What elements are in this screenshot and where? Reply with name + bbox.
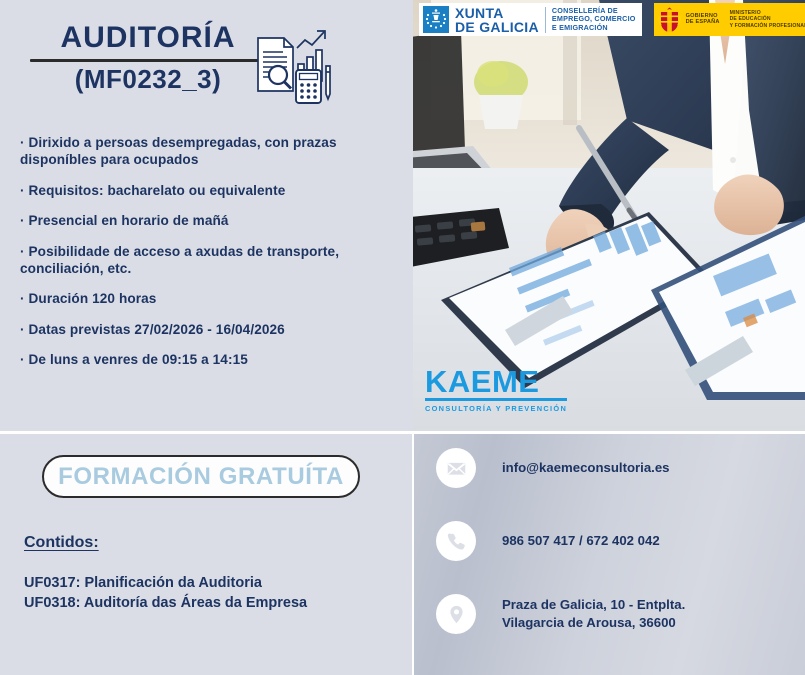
contents-block: Contidos: UF0317: Planificación da Audit… [24, 534, 307, 613]
phone-icon [436, 521, 476, 561]
envelope-icon [436, 448, 476, 488]
xunta-de-galicia-shield-icon [423, 6, 449, 33]
logo-divider [545, 7, 546, 33]
ministerio-line3: Y FORMACIÓN PROFESIONAL [730, 23, 805, 29]
audit-document-chart-calculator-icon [252, 26, 337, 108]
free-training-badge-label: FORMACIÓN GRATUÍTA [58, 463, 344, 491]
contact-address-line2: Vilagarcia de Arousa, 36600 [502, 614, 685, 632]
list-item: · De luns a venres de 09:15 a 14:15 [20, 351, 395, 368]
contact-address-text: Praza de Galicia, 10 - Entplta. Vilagarc… [502, 596, 685, 632]
xunta-dept-line3: E EMIGRACIÓN [552, 24, 636, 32]
spain-coat-of-arms-icon [658, 7, 681, 33]
institutional-logos: XUNTA DE GALICIA CONSELLERÍA DE EMPREGO,… [413, 0, 805, 40]
xunta-de-galicia-logo: XUNTA DE GALICIA CONSELLERÍA DE EMPREGO,… [419, 3, 642, 36]
xunta-name-line2: DE GALICIA [455, 20, 539, 34]
contact-phone-text: 986 507 417 / 672 402 042 [502, 532, 660, 550]
ministerio-name: MINISTERIO DE EDUCACIÓN Y FORMACIÓN PROF… [720, 10, 805, 29]
gobierno-de-espana-logo: GOBIERNO DE ESPAÑA MINISTERIO DE EDUCACI… [654, 3, 805, 36]
list-item: · Dirixido a persoas desempregadas, con … [20, 134, 395, 169]
contact-panel: info@kaemeconsultoria.es 986 507 417 / 6… [414, 434, 805, 675]
bottom-section: FORMACIÓN GRATUÍTA Contidos: UF0317: Pla… [0, 434, 805, 675]
gobierno-name: GOBIERNO DE ESPAÑA [686, 13, 720, 27]
xunta-name: XUNTA DE GALICIA [455, 6, 539, 34]
kaeme-tagline: CONSULTORÍA Y PREVENCIÓN [425, 404, 567, 413]
kaeme-logo: KAEME CONSULTORÍA Y PREVENCIÓN [425, 366, 567, 413]
contact-email-text: info@kaemeconsultoria.es [502, 459, 670, 477]
contact-list: info@kaemeconsultoria.es 986 507 417 / 6… [436, 448, 805, 634]
promo-panel: FORMACIÓN GRATUÍTA Contidos: UF0317: Pla… [0, 434, 412, 675]
contact-phone-row[interactable]: 986 507 417 / 672 402 042 [436, 521, 805, 561]
course-details-list: · Dirixido a persoas desempregadas, con … [20, 134, 395, 369]
xunta-department: CONSELLERÍA DE EMPREGO, COMERCIO E EMIGR… [552, 7, 636, 32]
list-item: · Posibilidade de acceso a axudas de tra… [20, 243, 395, 278]
list-item: · Datas previstas 27/02/2026 - 16/04/202… [20, 321, 395, 338]
top-section: AUDITORÍA (MF0232_3) [0, 0, 805, 431]
poster-root: AUDITORÍA (MF0232_3) [0, 0, 805, 675]
page-title: AUDITORÍA [28, 22, 268, 54]
status-badge: FORMACIÓN GRATUÍTA [42, 455, 360, 498]
location-pin-icon [436, 594, 476, 634]
kaeme-wordmark: KAEME [425, 366, 567, 397]
list-item: UF0318: Auditoría das Áreas da Empresa [24, 594, 307, 614]
xunta-name-line1: XUNTA [455, 6, 539, 20]
list-item: · Requisitos: bacharelato ou equivalente [20, 182, 395, 199]
course-code: (MF0232_3) [28, 66, 268, 93]
gobierno-text-block: GOBIERNO DE ESPAÑA MINISTERIO DE EDUCACI… [686, 10, 805, 29]
contact-address-line1: Praza de Galicia, 10 - Entplta. [502, 596, 685, 614]
course-title-block: AUDITORÍA (MF0232_3) [28, 22, 268, 93]
list-item: · Presencial en horario de mañá [20, 212, 395, 229]
gobierno-line2: DE ESPAÑA [686, 19, 720, 26]
course-info-panel: AUDITORÍA (MF0232_3) [0, 0, 413, 431]
list-item: UF0317: Planificación da Auditoria [24, 574, 307, 594]
contact-address-row[interactable]: Praza de Galicia, 10 - Entplta. Vilagarc… [436, 594, 805, 634]
list-item: · Duración 120 horas [20, 290, 395, 307]
contents-heading: Contidos: [24, 534, 307, 552]
contents-list: UF0317: Planificación da Auditoria UF031… [24, 574, 307, 613]
title-divider [30, 59, 266, 62]
contact-email-row[interactable]: info@kaemeconsultoria.es [436, 448, 805, 488]
